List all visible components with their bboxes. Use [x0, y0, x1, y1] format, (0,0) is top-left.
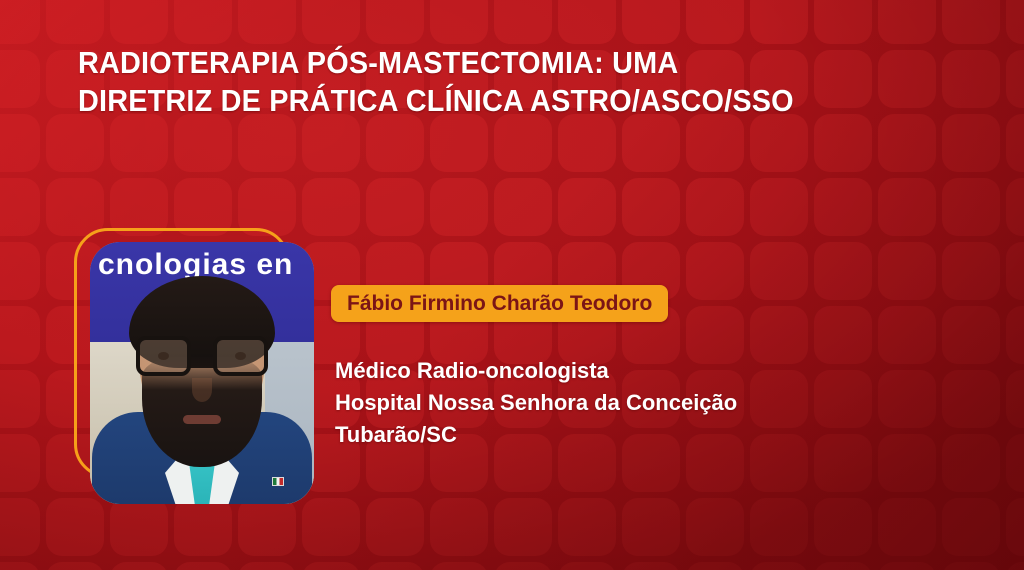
speaker-portrait-photo: cnologias en	[90, 242, 314, 504]
title-line-2: DIRETRIZ DE PRÁTICA CLÍNICA ASTRO/ASCO/S…	[78, 82, 859, 120]
photo-mouth	[183, 415, 221, 424]
presentation-slide: RADIOTERAPIA PÓS-MASTECTOMIA: UMA DIRETR…	[0, 0, 1024, 570]
photo-glasses-bridge	[191, 350, 213, 354]
speaker-name-text: Fábio Firmino Charão Teodoro	[347, 293, 652, 314]
photo-lapel-pin	[272, 477, 284, 486]
affiliation-line-3: Tubarão/SC	[335, 419, 935, 451]
speaker-affiliation: Médico Radio-oncologista Hospital Nossa …	[335, 355, 935, 451]
slide-title: RADIOTERAPIA PÓS-MASTECTOMIA: UMA DIRETR…	[78, 44, 918, 120]
title-line-1: RADIOTERAPIA PÓS-MASTECTOMIA: UMA	[78, 44, 859, 82]
affiliation-line-2: Hospital Nossa Senhora da Conceição	[335, 387, 935, 419]
speaker-name-badge: Fábio Firmino Charão Teodoro	[331, 285, 668, 322]
affiliation-line-1: Médico Radio-oncologista	[335, 355, 935, 387]
speaker-photo-block: cnologias en	[74, 228, 314, 504]
photo-eyeglasses	[136, 336, 268, 376]
